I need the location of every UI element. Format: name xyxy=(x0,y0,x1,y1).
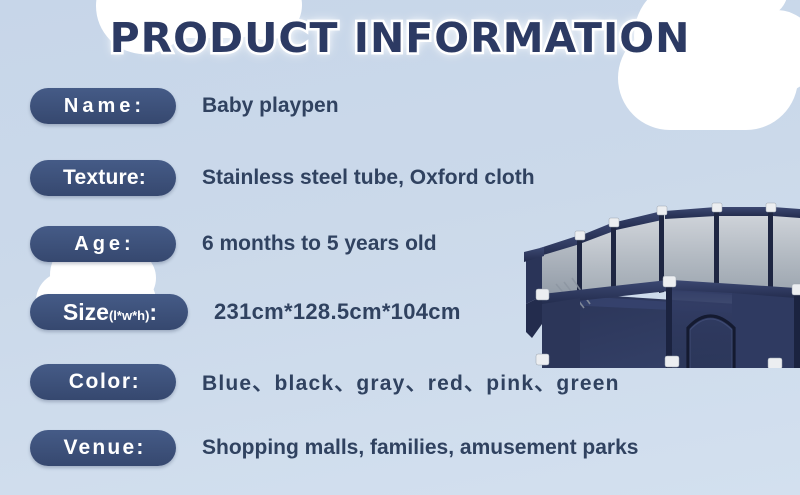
spec-label-texture-text: Texture: xyxy=(46,166,160,190)
spec-label-venue-text: Venue: xyxy=(46,436,159,460)
spec-row-venue: Venue: Shopping malls, families, amuseme… xyxy=(30,428,790,468)
spec-row-color: Color: Blue、black、gray、red、pink、green xyxy=(30,362,790,402)
playpen-illustration xyxy=(520,192,800,368)
spec-row-size: Size(l*w*h): 231cm*128.5cm*104cm xyxy=(30,292,790,332)
spec-value-color: Blue、black、gray、red、pink、green xyxy=(202,367,620,397)
spec-value-age: 6 months to 5 years old xyxy=(202,232,437,256)
spec-label-name: Name: xyxy=(30,88,176,124)
page-title: PRODUCT INFORMATION xyxy=(0,14,800,62)
product-image-playpen xyxy=(520,192,800,368)
spec-value-texture: Stainless steel tube, Oxford cloth xyxy=(202,166,535,190)
spec-row-age: Age: 6 months to 5 years old xyxy=(30,224,790,264)
spec-value-name: Baby playpen xyxy=(202,94,339,118)
spec-label-size-text: Size(l*w*h): xyxy=(51,299,167,326)
product-information-card: PRODUCT INFORMATION xyxy=(0,0,800,495)
spec-value-venue: Shopping malls, families, amusement park… xyxy=(202,436,638,460)
spec-label-size-colon: : xyxy=(149,299,157,326)
spec-label-venue: Venue: xyxy=(30,430,176,466)
spec-row-texture: Texture: Stainless steel tube, Oxford cl… xyxy=(30,158,790,198)
spec-row-name: Name: Baby playpen xyxy=(30,86,790,126)
spec-label-name-text: Name: xyxy=(47,95,159,118)
spec-label-age-text: Age: xyxy=(57,233,148,256)
spec-value-size: 231cm*128.5cm*104cm xyxy=(214,299,461,325)
spec-label-size: Size(l*w*h): xyxy=(30,294,188,330)
spec-label-color: Color: xyxy=(30,364,176,400)
spec-label-size-subscript: (l*w*h) xyxy=(109,308,149,323)
spec-label-size-main: Size xyxy=(63,299,109,326)
spec-label-color-text: Color: xyxy=(52,370,154,394)
spec-label-age: Age: xyxy=(30,226,176,262)
spec-label-texture: Texture: xyxy=(30,160,176,196)
